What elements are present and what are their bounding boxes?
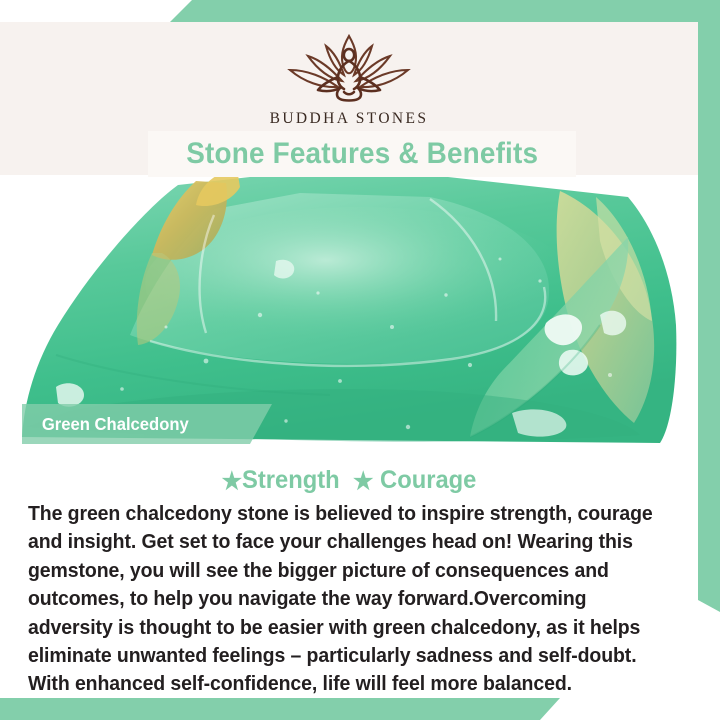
photo-caption-label: Green Chalcedony xyxy=(42,414,189,435)
photo-caption-bar: Green Chalcedony xyxy=(22,404,272,444)
keyword-courage: Courage xyxy=(380,466,476,494)
lotus-meditation-icon xyxy=(274,30,424,108)
star-icon-courage: ★ xyxy=(353,468,373,495)
star-icon-strength: ★ xyxy=(222,468,242,495)
frame-right-accent xyxy=(698,0,720,720)
frame-top-accent xyxy=(0,0,720,22)
keyword-strength: Strength xyxy=(242,466,340,494)
brand-name: BUDDHA STONES xyxy=(270,110,429,128)
brand-logo: BUDDHA STONES xyxy=(0,30,698,128)
poster-root: BUDDHA STONES xyxy=(0,0,720,720)
title-banner: Stone Features & Benefits xyxy=(148,131,576,177)
description-paragraph: The green chalcedony stone is believed t… xyxy=(28,500,673,699)
frame-bottom-accent xyxy=(0,698,720,720)
keyword-row: ★Strength★ Courage xyxy=(17,466,680,496)
page-title: Stone Features & Benefits xyxy=(186,137,538,171)
